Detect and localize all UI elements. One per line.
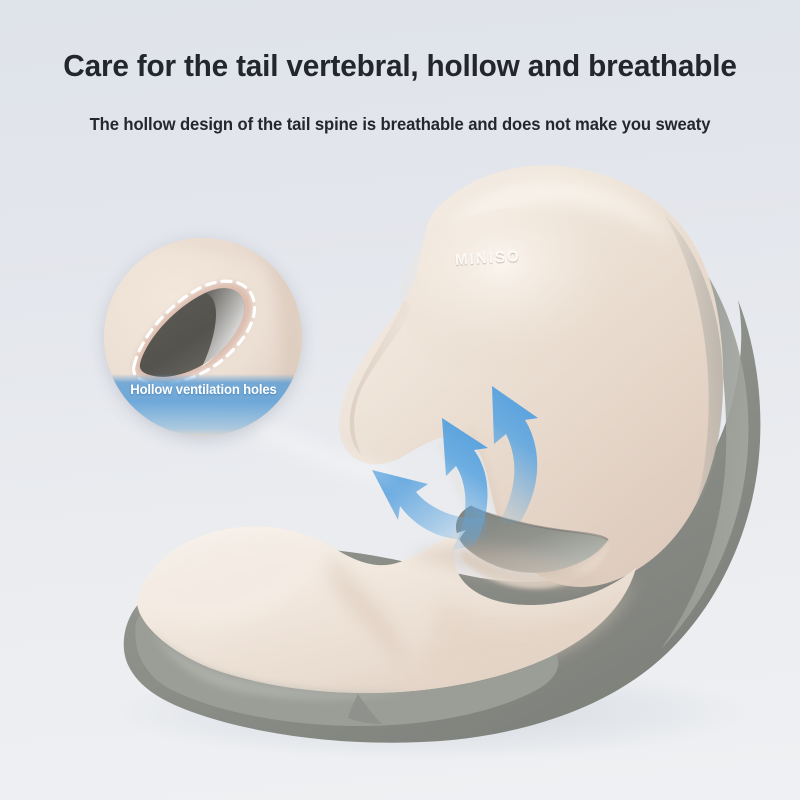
magnified-inset: Hollow ventilation holes (104, 238, 302, 436)
backrest-soft-light (400, 208, 640, 392)
inset-caption-band: Hollow ventilation holes (104, 374, 302, 436)
inset-caption-text: Hollow ventilation holes (130, 382, 276, 397)
product-feature-image: Care for the tail vertebral, hollow and … (0, 0, 800, 800)
